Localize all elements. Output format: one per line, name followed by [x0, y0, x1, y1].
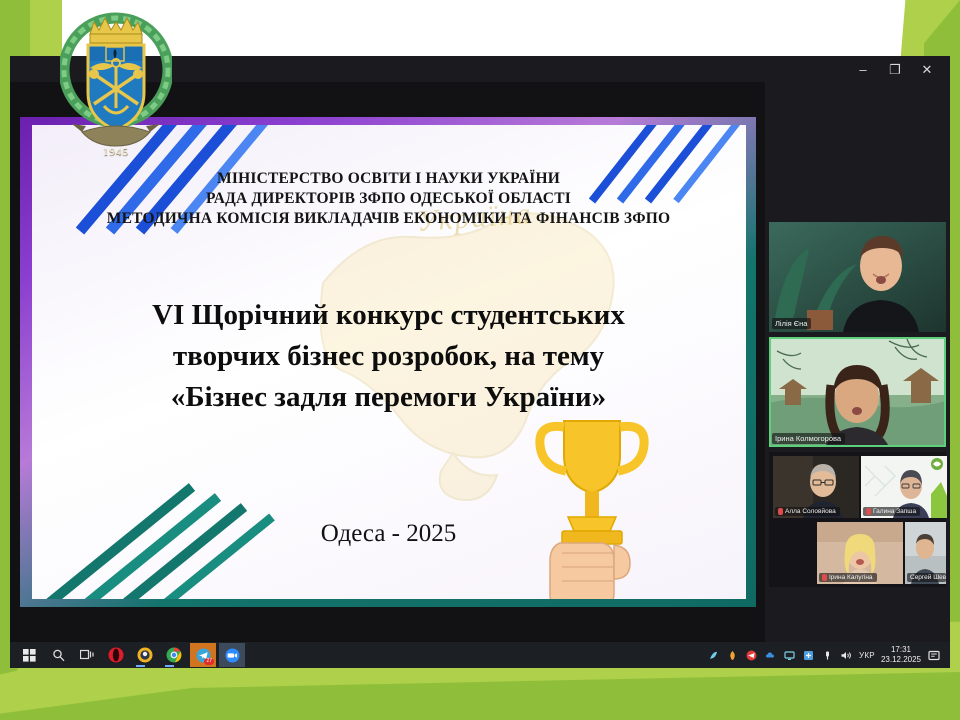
- tray-usb-icon[interactable]: [821, 649, 834, 662]
- opera-button[interactable]: [103, 643, 129, 667]
- start-button[interactable]: [16, 643, 42, 667]
- slide-page: 1945 – ❐ ✕ Україна: [0, 0, 960, 720]
- slide-title-line-2: творчих бізнес розробок, на тему: [32, 336, 746, 377]
- participant-tile-iryna-kalugina[interactable]: Ірина Калугіна: [817, 522, 903, 584]
- tray-flame-icon[interactable]: [726, 649, 739, 662]
- muted-mic-icon: [822, 574, 827, 581]
- participant-tile-halyna-zapsha[interactable]: Галина Запша: [861, 456, 947, 518]
- participant-video-lilia: [769, 222, 946, 332]
- taskbar-system-tray: УКР 17:31 23.12.2025: [707, 645, 944, 665]
- slide-header-line-2: РАДА ДИРЕКТОРІВ ЗФПО ОДЕСЬКОЇ ОБЛАСТІ: [32, 189, 746, 209]
- tray-app-icon[interactable]: [802, 649, 815, 662]
- slide-header-line-1: МІНІСТЕРСТВО ОСВІТИ І НАУКИ УКРАЇНИ: [32, 169, 746, 189]
- browser-icon: [137, 647, 153, 663]
- zoom-button[interactable]: [219, 643, 245, 667]
- windows-taskbar: 27: [10, 642, 950, 668]
- trophy-icon: [502, 393, 682, 599]
- presentation-slide: Україна: [20, 117, 756, 607]
- chrome-icon: [166, 647, 182, 663]
- close-button[interactable]: ✕: [920, 63, 934, 76]
- participant-name-badge: Ірина Калугіна: [819, 573, 877, 582]
- participant-name-badge: Сергей Шевченко: [907, 573, 946, 582]
- screen-share-area[interactable]: Україна: [10, 82, 765, 642]
- tray-telegram-icon[interactable]: [745, 649, 758, 662]
- telegram-button[interactable]: 27: [190, 643, 216, 667]
- participant-name-badge: Алла Соловйова: [775, 507, 840, 516]
- clock-time: 17:31: [881, 645, 921, 655]
- maximize-button[interactable]: ❐: [888, 63, 902, 76]
- muted-mic-icon: [778, 508, 783, 515]
- zoom-icon: [225, 648, 240, 663]
- participant-tile-serhii-shevchenko[interactable]: Сергей Шевченко: [905, 522, 946, 584]
- slide-header-block: МІНІСТЕРСТВО ОСВІТИ І НАУКИ УКРАЇНИ РАДА…: [32, 169, 746, 229]
- minimize-button[interactable]: –: [856, 63, 870, 76]
- telegram-badge: 27: [204, 658, 214, 665]
- clock-date: 23.12.2025: [881, 655, 921, 665]
- windows-logo-icon: [23, 649, 36, 662]
- notification-icon[interactable]: [927, 649, 940, 662]
- participant-name-badge: Лілія Єна: [772, 318, 811, 329]
- participant-label-serhii-shevchenko: Сергей Шевченко: [910, 574, 946, 581]
- window-titlebar: – ❐ ✕: [700, 56, 950, 82]
- participant-tile-lilia[interactable]: Лілія Єна: [769, 222, 946, 332]
- participant-name-badge: Ірина Колмогорова: [772, 433, 845, 444]
- slide-content-panel: Україна: [32, 125, 746, 599]
- participants-mini-grid: Алла Соловйова: [769, 452, 946, 587]
- search-button[interactable]: [45, 643, 71, 667]
- task-view-button[interactable]: [74, 643, 100, 667]
- participant-video-iryna-kolmohorova: [769, 337, 946, 447]
- muted-mic-icon: [866, 508, 871, 515]
- language-indicator[interactable]: УКР: [859, 651, 875, 660]
- opera-icon: [108, 647, 124, 663]
- participant-label-halyna-zapsha: Галина Запша: [873, 508, 916, 515]
- tray-pen-icon[interactable]: [707, 649, 720, 662]
- slide-title-line-1: VI Щорічний конкурс студентських: [32, 295, 746, 336]
- participant-label-alla-solovyova: Алла Соловйова: [785, 508, 836, 515]
- search-icon: [52, 649, 65, 662]
- taskbar-clock[interactable]: 17:31 23.12.2025: [881, 645, 921, 665]
- emblem-year-label: 1945: [60, 146, 172, 158]
- tray-volume-icon[interactable]: [840, 649, 853, 662]
- participant-label-lilia: Лілія Єна: [775, 319, 807, 328]
- task-view-icon: [80, 649, 94, 661]
- participant-label-iryna-kalugina: Ірина Калугіна: [829, 574, 873, 581]
- participant-tile-iryna-kolmohorova[interactable]: Ірина Колмогорова: [769, 337, 946, 447]
- participants-panel: Лілія Єна: [765, 82, 950, 642]
- decor-top-white-band: [62, 0, 892, 62]
- participant-name-badge: Галина Запша: [863, 507, 920, 516]
- chrome-button[interactable]: [161, 643, 187, 667]
- slide-header-line-3: МЕТОДИЧНА КОМІСІЯ ВИКЛАДАЧІВ ЕКОНОМІКИ Т…: [32, 209, 746, 229]
- taskbar-app-list: 27: [16, 643, 245, 667]
- browser-button[interactable]: [132, 643, 158, 667]
- tray-cloud-icon[interactable]: [764, 649, 777, 662]
- tray-display-icon[interactable]: [783, 649, 796, 662]
- participant-tile-alla-solovyova[interactable]: Алла Соловйова: [773, 456, 859, 518]
- coat-of-arms-emblem: 1945: [60, 8, 172, 160]
- participant-label-iryna-kolmohorova: Ірина Колмогорова: [775, 434, 841, 443]
